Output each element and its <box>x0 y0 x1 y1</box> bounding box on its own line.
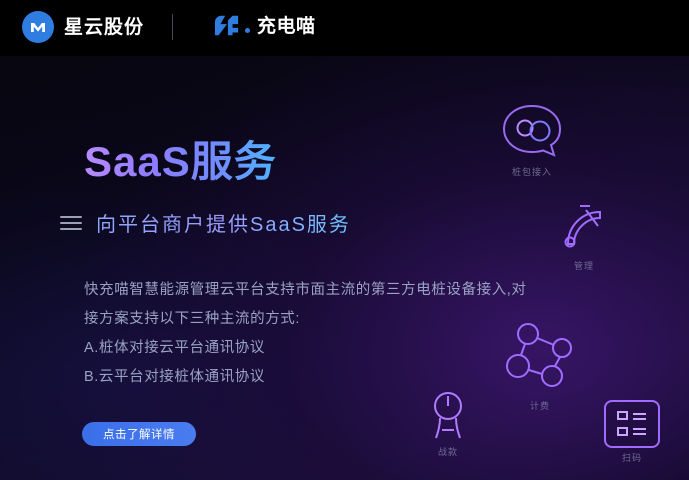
brand-dot-icon <box>245 28 250 33</box>
page-title: SaaS服务 <box>84 128 277 189</box>
node-charge-access[interactable]: 桩包接入 <box>496 100 568 178</box>
node-scan-code-label: 扫码 <box>622 451 642 464</box>
node-management-label: 管理 <box>574 259 594 272</box>
primary-brand-label: 星云股份 <box>64 18 144 37</box>
primary-brand[interactable]: 星云股份 <box>22 11 144 43</box>
top-bar: 星云股份 充电喵 <box>0 0 689 56</box>
satellite-dish-icon <box>556 200 612 256</box>
charge-meow-logo-icon <box>212 13 242 39</box>
node-scan-code[interactable]: 扫码 <box>604 400 660 464</box>
secondary-brand-label: 充电喵 <box>257 17 316 36</box>
node-power[interactable]: 战款 <box>420 388 476 458</box>
hamburger-icon[interactable] <box>60 216 82 230</box>
body-line-1: 快充喵智慧能源管理云平台支持市面主流的第三方电桩设备接入,对 <box>84 276 584 305</box>
page-root: 星云股份 充电喵 SaaS服务 向平台商户提供SaaS服务 快充喵智慧能源管理云… <box>0 0 689 480</box>
node-management[interactable]: 管理 <box>556 200 612 272</box>
node-power-label: 战款 <box>438 445 458 458</box>
charge-plug-circle-icon <box>496 100 568 162</box>
secondary-brand[interactable]: 充电喵 <box>212 13 316 39</box>
cloud-m-logo-icon <box>22 11 54 43</box>
header-divider <box>172 14 173 40</box>
power-gauge-icon <box>420 388 476 442</box>
qr-scan-icon <box>604 400 660 448</box>
subtitle-row: 向平台商户提供SaaS服务 <box>60 208 351 237</box>
details-button[interactable]: 点击了解详情 <box>82 422 196 446</box>
node-metering-label: 计费 <box>530 399 550 412</box>
page-subtitle: 向平台商户提供SaaS服务 <box>96 208 351 237</box>
node-charge-access-label: 桩包接入 <box>512 165 552 178</box>
network-nodes-icon <box>498 318 582 396</box>
node-metering[interactable]: 计费 <box>498 318 582 412</box>
